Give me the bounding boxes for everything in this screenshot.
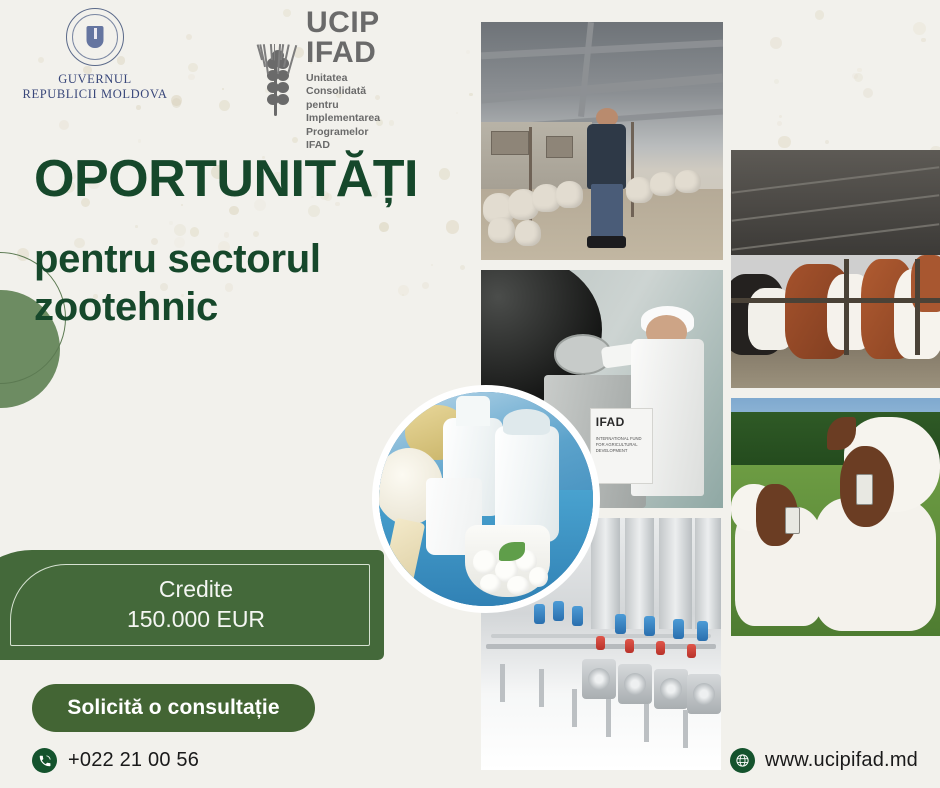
credit-amount: 150.000 EUR bbox=[18, 605, 374, 635]
photo-sheep-barn bbox=[481, 22, 723, 260]
headline-secondary-line1: pentru sectorul bbox=[34, 235, 418, 284]
photo-dairy-products bbox=[372, 385, 600, 613]
photo-goats-pasture bbox=[731, 398, 940, 636]
credit-offer-box: Credite 150.000 EUR bbox=[0, 550, 384, 660]
ucip-logo-title: UCIP IFAD bbox=[306, 8, 380, 68]
phone-number: +022 21 00 56 bbox=[68, 749, 199, 772]
headline-primary: OPORTUNITĂȚI bbox=[34, 152, 418, 207]
phone-icon bbox=[32, 748, 57, 773]
poster-canvas: GUVERNUL REPUBLICII MOLDOVA UCIP IFAD Un… bbox=[0, 0, 940, 788]
ifad-equipment-label: IFAD INTERNATIONAL FUND FOR AGRICULTURAL… bbox=[590, 408, 653, 484]
ifad-label-title: IFAD bbox=[596, 415, 625, 429]
gov-logo-line1: GUVERNUL bbox=[20, 72, 170, 87]
moldova-state-seal-icon bbox=[66, 8, 124, 66]
ifad-label-subtext: INTERNATIONAL FUND FOR AGRICULTURAL DEVE… bbox=[596, 436, 648, 455]
contact-website[interactable]: www.ucipifad.md bbox=[730, 748, 918, 773]
photo-dairy-cows bbox=[731, 150, 940, 388]
credit-label: Credite bbox=[18, 575, 374, 605]
contact-phone[interactable]: +022 21 00 56 bbox=[32, 748, 199, 773]
headline-block: OPORTUNITĂȚI pentru sectorul zootehnic bbox=[34, 152, 418, 332]
gov-logo-line2: REPUBLICII MOLDOVA bbox=[20, 87, 170, 102]
ucip-logo-subtitle-line2: Implementarea Programelor IFAD bbox=[306, 112, 380, 152]
ucip-logo-subtitle-line1: Unitatea Consolidată pentru bbox=[306, 72, 380, 112]
globe-icon bbox=[730, 748, 755, 773]
headline-secondary-line2: zootehnic bbox=[34, 283, 418, 332]
website-url: www.ucipifad.md bbox=[765, 749, 918, 772]
government-logo: GUVERNUL REPUBLICII MOLDOVA bbox=[20, 8, 170, 103]
cta-label: Solicită o consultație bbox=[67, 696, 279, 720]
request-consultation-button[interactable]: Solicită o consultație bbox=[32, 684, 315, 732]
ucip-ifad-logo: UCIP IFAD Unitatea Consolidată pentru Im… bbox=[255, 8, 380, 153]
wheat-ear-icon bbox=[255, 44, 297, 116]
